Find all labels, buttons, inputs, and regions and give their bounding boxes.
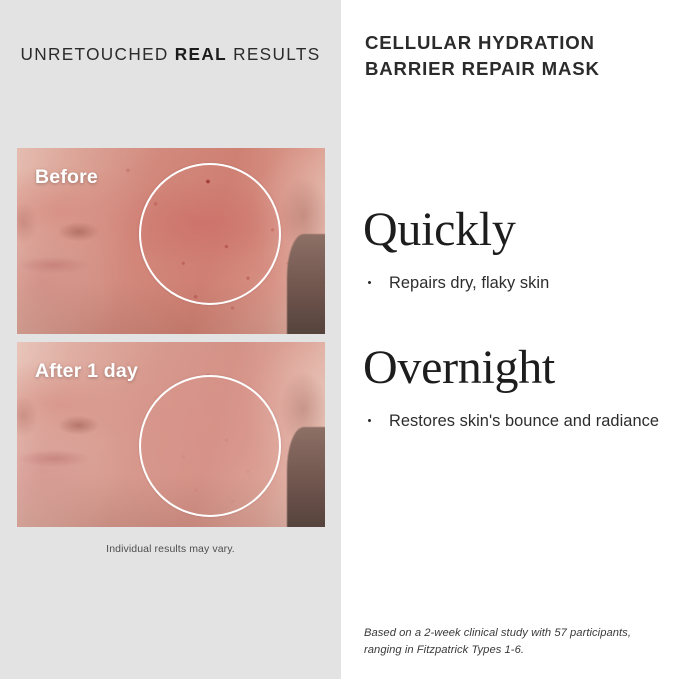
highlight-circle-icon <box>139 163 281 305</box>
results-disclaimer: Individual results may vary. <box>0 543 341 555</box>
benefit-block-quickly: Quickly Repairs dry, flaky skin <box>363 205 673 295</box>
before-after-panel: UNRETOUCHED REAL RESULTS Before After 1 … <box>0 0 341 679</box>
after-photo: After 1 day <box>17 342 325 527</box>
benefit-list-item: Restores skin's bounce and radiance <box>363 410 673 433</box>
before-photo: Before <box>17 148 325 334</box>
highlight-circle-icon <box>139 375 281 517</box>
benefit-heading: Overnight <box>363 343 673 393</box>
benefit-list-item: Repairs dry, flaky skin <box>363 272 673 295</box>
product-title: CELLULAR HYDRATION BARRIER REPAIR MASK <box>365 30 665 83</box>
benefit-text: Repairs dry, flaky skin <box>389 274 549 292</box>
product-info-panel: CELLULAR HYDRATION BARRIER REPAIR MASK Q… <box>341 0 679 679</box>
bullet-dot-icon <box>368 281 371 284</box>
benefit-heading: Quickly <box>363 205 673 255</box>
headline-suffix: RESULTS <box>227 44 321 64</box>
benefit-text: Restores skin's bounce and radiance <box>389 412 659 430</box>
hair-region <box>287 234 325 334</box>
headline-prefix: UNRETOUCHED <box>20 44 174 64</box>
benefit-list: Restores skin's bounce and radiance <box>363 410 673 433</box>
results-advertisement: UNRETOUCHED REAL RESULTS Before After 1 … <box>0 0 679 679</box>
unretouched-headline: UNRETOUCHED REAL RESULTS <box>0 44 341 65</box>
before-photo-label: Before <box>35 166 98 189</box>
product-title-line-2: BARRIER REPAIR MASK <box>365 56 665 82</box>
benefit-block-overnight: Overnight Restores skin's bounce and rad… <box>363 343 673 433</box>
photo-stack: Before After 1 day <box>17 148 325 527</box>
after-photo-label: After 1 day <box>35 360 138 383</box>
headline-emphasis: REAL <box>175 44 227 64</box>
hair-region <box>287 427 325 527</box>
benefit-list: Repairs dry, flaky skin <box>363 272 673 295</box>
bullet-dot-icon <box>368 419 371 422</box>
clinical-study-footnote: Based on a 2-week clinical study with 57… <box>364 625 654 660</box>
product-title-line-1: CELLULAR HYDRATION <box>365 30 665 56</box>
